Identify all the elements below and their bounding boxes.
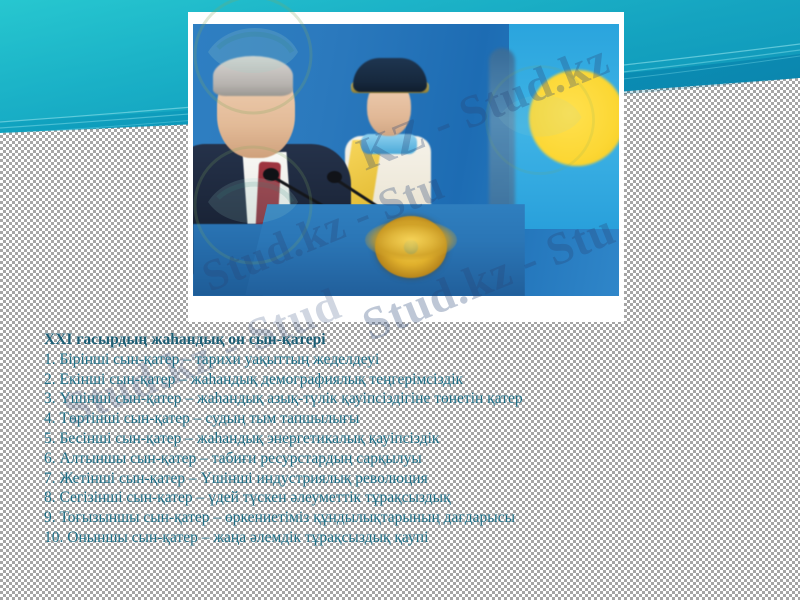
flag-sun-icon xyxy=(529,70,619,166)
challenge-item-7: 7. Жетінші сын-қатер – Үшінші индустриял… xyxy=(44,469,784,489)
microphone-head-2 xyxy=(327,171,342,183)
podium-photo xyxy=(193,24,619,296)
podium-photo-frame xyxy=(188,12,624,322)
challenge-item-4: 4. Төртінші сын-қатер – судың тым тапшыл… xyxy=(44,409,784,429)
microphone-head-1 xyxy=(263,168,279,181)
challenge-item-5: 5. Бесінші сын-қатер – жаһандық энергети… xyxy=(44,429,784,449)
honor-guard-cap xyxy=(353,58,427,92)
challenge-item-6: 6. Алтыншы сын-қатер – табиғи ресурстард… xyxy=(44,449,784,469)
challenge-item-9: 9. Тоғызыншы сын-қатер – өркениетіміз құ… xyxy=(44,508,784,528)
flag-pole xyxy=(489,48,515,228)
challenge-item-8: 8. Сегізінші сын-қатер – үдей түскен әле… xyxy=(44,488,784,508)
kazakhstan-emblem-icon xyxy=(375,216,447,278)
challenge-item-2: 2. Екінші сын-қатер – жаһандық демографи… xyxy=(44,370,784,390)
slide-canvas: KZ - Stud.kz Stud.kz - Stu Stud.kz - Stu… xyxy=(0,0,800,600)
challenge-item-3: 3. Үшінші сын-қатер – жаһандық азық-түлі… xyxy=(44,389,784,409)
challenge-item-10: 10. Оныншы сын-қатер – жаңа әлемдік тұра… xyxy=(44,528,784,548)
challenge-item-1: 1. Бірінші сын-қатер – тарихи уақыттың ж… xyxy=(44,350,784,370)
slide-text-block: XXI ғасырдың жаһандық он сын-қатері 1. Б… xyxy=(44,330,784,548)
honor-guard-collar xyxy=(361,134,417,154)
slide-title: XXI ғасырдың жаһандық он сын-қатері xyxy=(44,330,784,350)
speaker-hair xyxy=(213,56,293,96)
